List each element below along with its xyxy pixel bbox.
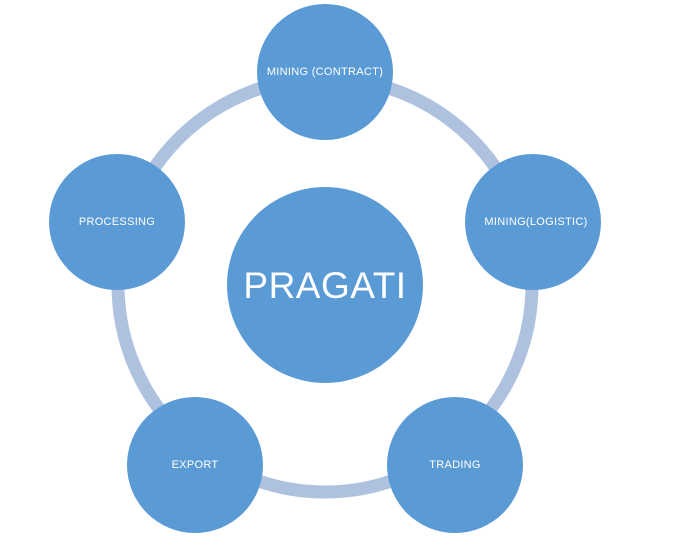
radial-cycle-diagram: MINING (CONTRACT) MINING(LOGISTIC) TRADI… (0, 0, 679, 547)
node-circle-trading[interactable] (387, 397, 523, 533)
node-trading[interactable]: TRADING (387, 397, 523, 533)
node-circle-export[interactable] (127, 397, 263, 533)
diagram-canvas: MINING (CONTRACT) MINING(LOGISTIC) TRADI… (0, 0, 679, 547)
node-circle-mining-contract[interactable] (257, 4, 393, 140)
node-circle-processing[interactable] (49, 154, 185, 290)
node-processing[interactable]: PROCESSING (49, 154, 185, 290)
node-mining-contract[interactable]: MINING (CONTRACT) (257, 4, 393, 140)
hub-node-pragati[interactable]: PRAGATI (227, 187, 423, 383)
node-mining-logistic[interactable]: MINING(LOGISTIC) (465, 154, 601, 290)
node-circle-mining-logistic[interactable] (465, 154, 601, 290)
node-export[interactable]: EXPORT (127, 397, 263, 533)
hub-circle[interactable] (227, 187, 423, 383)
